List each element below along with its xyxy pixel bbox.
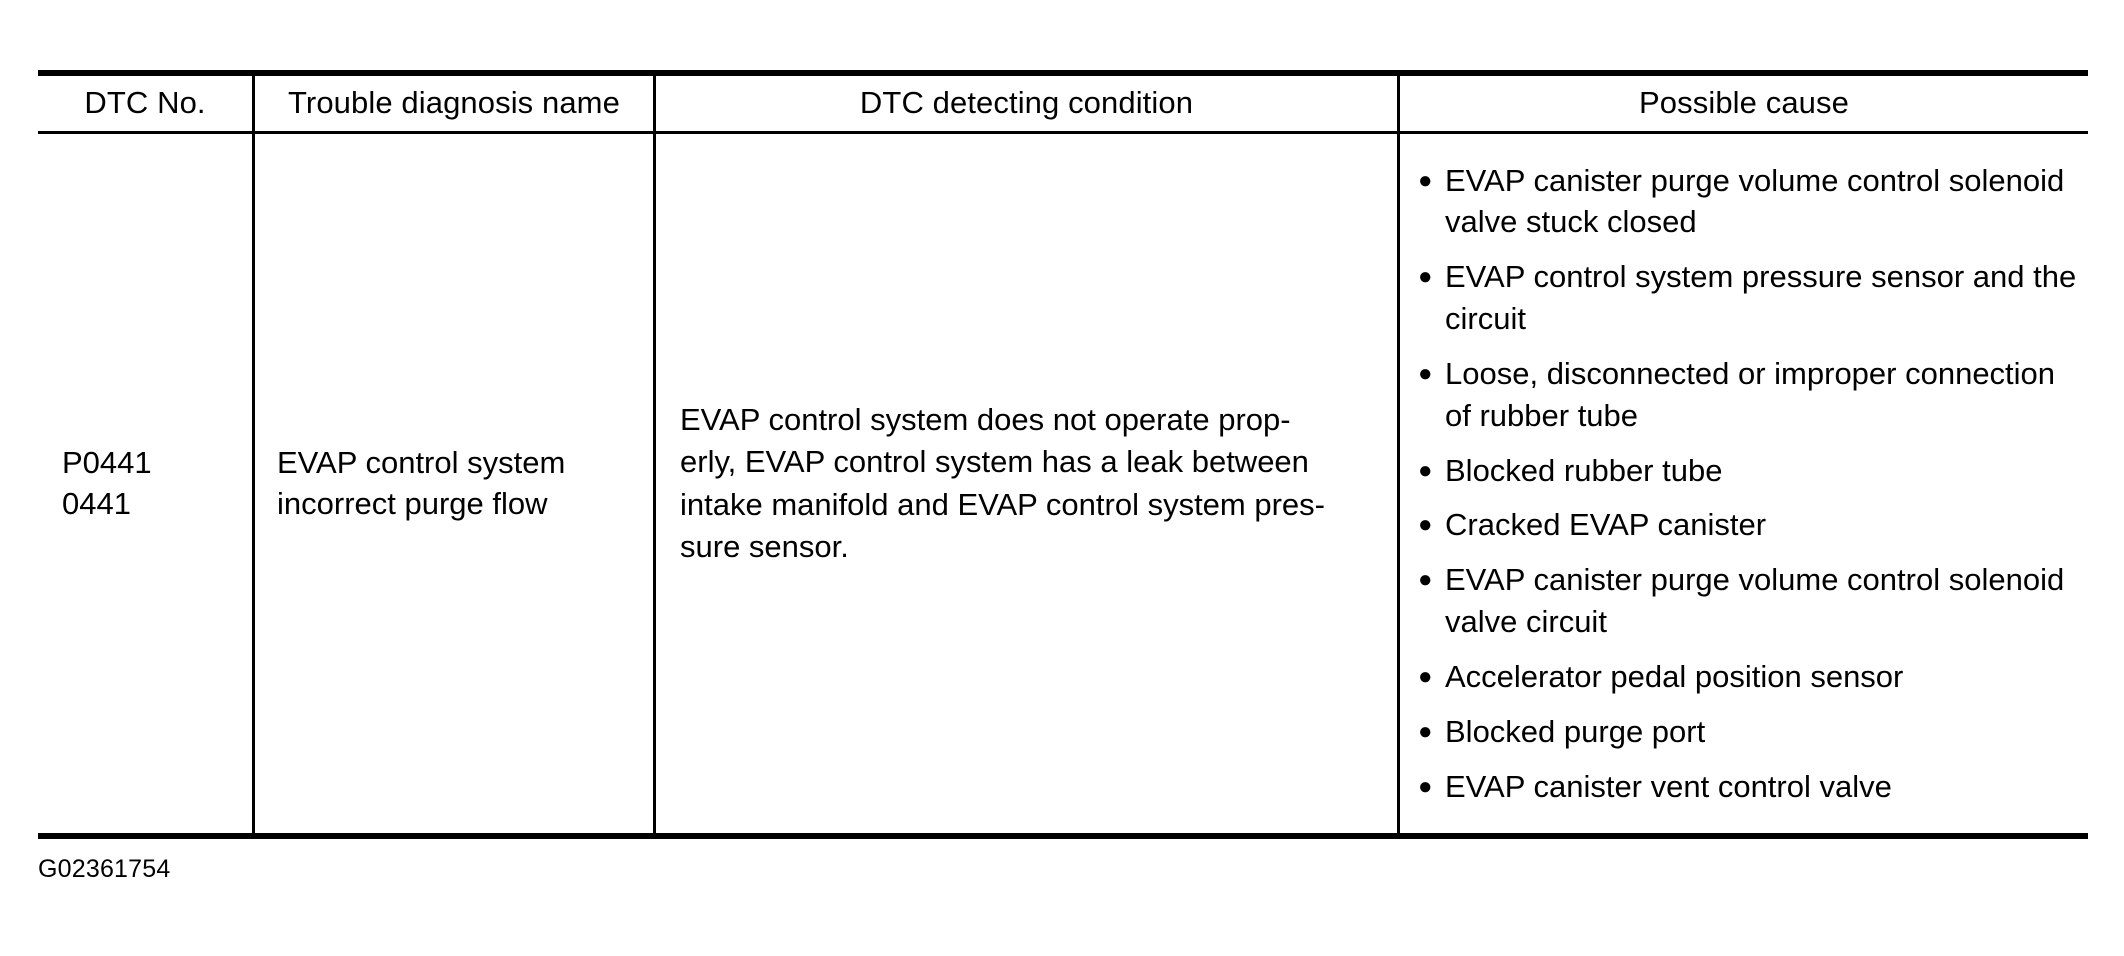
list-item: ●Cracked EVAP canister bbox=[1418, 504, 2078, 546]
list-item: ●Blocked rubber tube bbox=[1418, 450, 2078, 492]
possible-cause-text: Loose, disconnected or improper connecti… bbox=[1445, 353, 2078, 437]
bullet-dot-icon: ● bbox=[1418, 160, 1445, 201]
possible-cause-text: Blocked rubber tube bbox=[1445, 450, 2078, 492]
list-item: ●EVAP canister purge volume control sole… bbox=[1418, 559, 2078, 643]
dtc-detecting-condition-line: EVAP control system does not operate pro… bbox=[680, 399, 1375, 441]
trouble-diagnosis-name-line: incorrect purge flow bbox=[277, 484, 639, 525]
trouble-diagnosis-name-line: EVAP control system bbox=[277, 443, 639, 484]
cell-dtc-detecting-condition: EVAP control system does not operate pro… bbox=[653, 134, 1397, 833]
cell-trouble-diagnosis-name: EVAP control system incorrect purge flow bbox=[252, 134, 653, 833]
table-header-row: DTC No. Trouble diagnosis name DTC detec… bbox=[38, 76, 2088, 131]
list-item: ●Loose, disconnected or improper connect… bbox=[1418, 353, 2078, 437]
dtc-code-primary: P0441 bbox=[62, 443, 252, 484]
column-header-possible-cause: Possible cause bbox=[1397, 76, 2088, 131]
list-item: ●EVAP canister vent control valve bbox=[1418, 766, 2078, 808]
figure-id-caption: G02361754 bbox=[38, 855, 170, 884]
list-item: ●EVAP control system pressure sensor and… bbox=[1418, 256, 2078, 340]
possible-cause-text: Cracked EVAP canister bbox=[1445, 504, 2078, 546]
possible-cause-text: Blocked purge port bbox=[1445, 711, 2078, 753]
bullet-dot-icon: ● bbox=[1418, 450, 1445, 491]
possible-cause-text: Accelerator pedal position sensor bbox=[1445, 656, 2078, 698]
cell-dtc-no: P0441 0441 bbox=[38, 134, 252, 833]
bullet-dot-icon: ● bbox=[1418, 559, 1445, 600]
dtc-code-secondary: 0441 bbox=[62, 484, 252, 525]
list-item: ●Accelerator pedal position sensor bbox=[1418, 656, 2078, 698]
possible-cause-text: EVAP canister vent control valve bbox=[1445, 766, 2078, 808]
table-row: P0441 0441 EVAP control system incorrect… bbox=[38, 134, 2088, 833]
column-header-dtc-no: DTC No. bbox=[38, 76, 252, 131]
dtc-detecting-condition-line: erly, EVAP control system has a leak bet… bbox=[680, 441, 1375, 483]
column-header-trouble-diagnosis-name-label: Trouble diagnosis name bbox=[288, 86, 620, 120]
bullet-dot-icon: ● bbox=[1418, 711, 1445, 752]
list-item: ●Blocked purge port bbox=[1418, 711, 2078, 753]
possible-cause-text: EVAP canister purge volume control solen… bbox=[1445, 160, 2078, 244]
bullet-dot-icon: ● bbox=[1418, 256, 1445, 297]
dtc-diagnosis-table: DTC No. Trouble diagnosis name DTC detec… bbox=[38, 70, 2088, 839]
bullet-dot-icon: ● bbox=[1418, 766, 1445, 807]
table-bottom-rule bbox=[38, 833, 2088, 839]
column-header-dtc-detecting-condition-label: DTC detecting condition bbox=[860, 86, 1193, 120]
possible-cause-text: EVAP control system pressure sensor and … bbox=[1445, 256, 2078, 340]
column-header-dtc-detecting-condition: DTC detecting condition bbox=[653, 76, 1397, 131]
list-item: ●EVAP canister purge volume control sole… bbox=[1418, 160, 2078, 244]
possible-cause-list: ●EVAP canister purge volume control sole… bbox=[1418, 160, 2078, 808]
dtc-detecting-condition-line: intake manifold and EVAP control system … bbox=[680, 484, 1375, 526]
bullet-dot-icon: ● bbox=[1418, 504, 1445, 545]
column-header-possible-cause-label: Possible cause bbox=[1639, 86, 1849, 120]
bullet-dot-icon: ● bbox=[1418, 656, 1445, 697]
cell-possible-cause: ●EVAP canister purge volume control sole… bbox=[1397, 134, 2088, 833]
dtc-detecting-condition-line: sure sensor. bbox=[680, 526, 1375, 568]
column-header-dtc-no-label: DTC No. bbox=[84, 86, 205, 120]
column-header-trouble-diagnosis-name: Trouble diagnosis name bbox=[252, 76, 653, 131]
bullet-dot-icon: ● bbox=[1418, 353, 1445, 394]
possible-cause-text: EVAP canister purge volume control solen… bbox=[1445, 559, 2078, 643]
